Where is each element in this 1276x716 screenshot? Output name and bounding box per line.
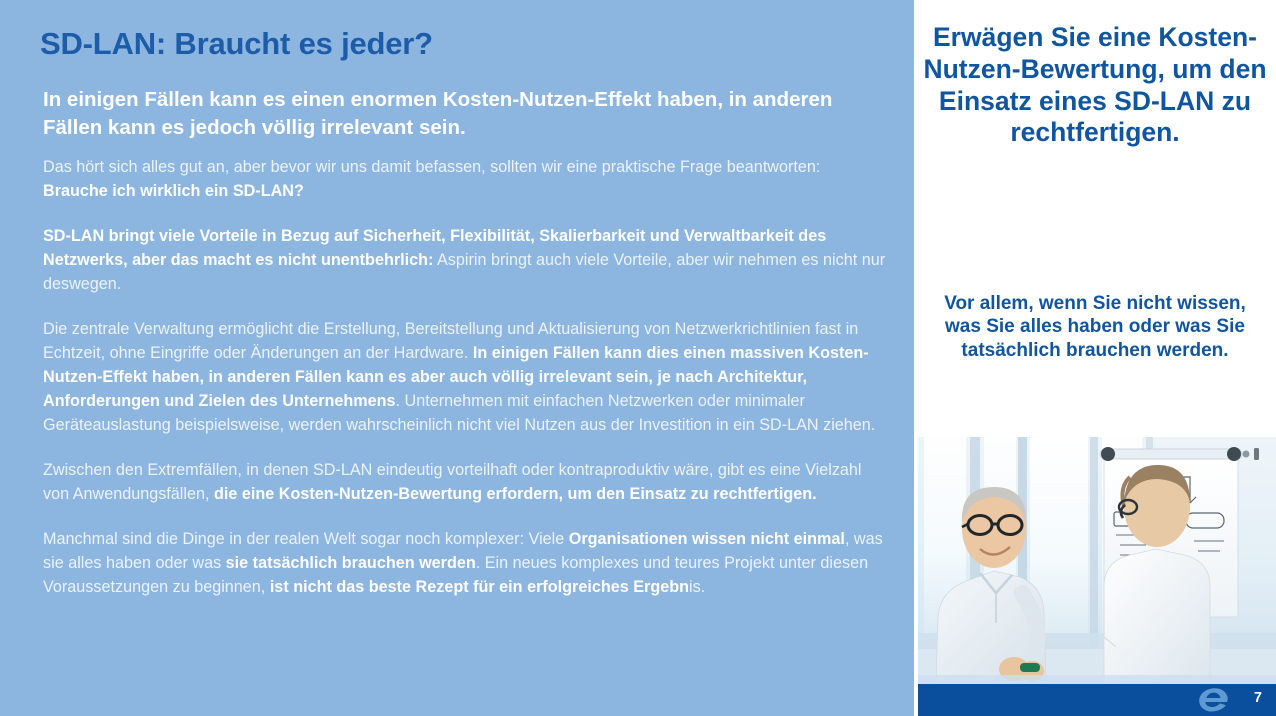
- paragraph-3: Die zentrale Verwaltung ermöglicht die E…: [43, 318, 887, 438]
- paragraph-5-emphasis-2: sie tatsächlich brauchen werden: [226, 554, 476, 572]
- office-photo: [918, 437, 1276, 684]
- sidebar-panel: Erwägen Sie eine Kosten-Nutzen-Bewertung…: [914, 0, 1276, 716]
- page-number: 7: [1254, 691, 1262, 706]
- paragraph-5: Manchmal sind die Dinge in der realen We…: [43, 528, 887, 600]
- e-brand-logo-icon: [1197, 687, 1231, 713]
- paragraph-4-emphasis: die eine Kosten-Nutzen-Bewertung erforde…: [214, 485, 817, 503]
- footer-bar: 7: [918, 684, 1276, 716]
- main-content-panel: SD-LAN: Braucht es jeder? In einigen Fäl…: [0, 0, 914, 716]
- paragraph-1-emphasis: Brauche ich wirklich ein SD-LAN?: [43, 182, 304, 200]
- body-text-stack: Das hört sich alles gut an, aber bevor w…: [43, 156, 887, 600]
- office-photo-illustration: [918, 437, 1276, 684]
- paragraph-1-lead: Das hört sich alles gut an, aber bevor w…: [43, 158, 820, 176]
- slide-canvas: SD-LAN: Braucht es jeder? In einigen Fäl…: [0, 0, 1276, 716]
- paragraph-4: Zwischen den Extremfällen, in denen SD-L…: [43, 459, 887, 507]
- paragraph-2: SD-LAN bringt viele Vorteile in Bezug au…: [43, 225, 887, 297]
- paragraph-5-emphasis-1: Organisationen wissen nicht einmal: [569, 530, 845, 548]
- callout-subtext: Vor allem, wenn Sie nicht wissen, was Si…: [924, 292, 1266, 362]
- paragraph-5-lead: Manchmal sind die Dinge in der realen We…: [43, 530, 569, 548]
- paragraph-5-tail: is.: [689, 578, 705, 596]
- callout-heading: Erwägen Sie eine Kosten-Nutzen-Bewertung…: [920, 22, 1270, 149]
- page-title: SD-LAN: Braucht es jeder?: [40, 26, 433, 62]
- paragraph-5-emphasis-3: ist nicht das beste Rezept für ein erfol…: [270, 578, 689, 596]
- subheading: In einigen Fällen kann es einen enormen …: [43, 86, 843, 143]
- paragraph-1: Das hört sich alles gut an, aber bevor w…: [43, 156, 887, 204]
